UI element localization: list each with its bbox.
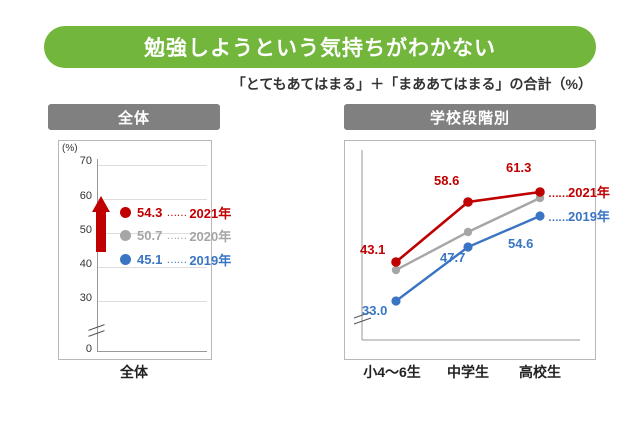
datalabel-2019-kou: 54.6 — [508, 236, 533, 251]
y-unit-label: (%) — [62, 143, 78, 154]
section-header-overall: 全体 — [48, 104, 220, 130]
legend-year-2020: 2020年 — [189, 226, 231, 245]
xcat-shou: 小4〜6生 — [352, 362, 432, 382]
ytick-40: 40 — [70, 258, 92, 270]
section-header-byschool-label: 学校段階別 — [430, 107, 510, 128]
legend-dot-2019-icon — [120, 254, 131, 265]
legend-dots-2019: …… — [166, 254, 186, 266]
series-dots-2021: …… — [548, 188, 568, 200]
slide-root: 勉強しようという気持ちがわかない 「とてもあてはまる」＋「まああてはまる」の合計… — [0, 0, 640, 427]
datalabel-2019-shou: 33.0 — [362, 303, 387, 318]
x-axis-line — [97, 351, 207, 352]
increase-arrow-icon — [92, 196, 110, 252]
legend-dot-2021-icon — [120, 207, 131, 218]
legend-year-2021: 2021年 — [189, 203, 231, 222]
datalabel-2021-kou: 61.3 — [506, 160, 531, 175]
ytick-70: 70 — [70, 155, 92, 167]
series-label-2019: ……2019年 — [548, 206, 610, 225]
legend-item-2021: 54.3 …… 2021年 — [120, 203, 231, 222]
legend-value-2019: 45.1 — [137, 252, 162, 267]
legend-value-2020: 50.7 — [137, 228, 162, 243]
x-caption-overall: 全体 — [94, 362, 174, 382]
ytick-30: 30 — [70, 292, 92, 304]
datalabel-2019-chu: 47.7 — [440, 250, 465, 265]
gridline-30 — [97, 301, 207, 302]
gridline-60 — [97, 199, 207, 200]
ytick-60: 60 — [70, 190, 92, 202]
subtitle: 「とてもあてはまる」＋「まああてはまる」の合計（%） — [232, 74, 592, 94]
section-header-overall-label: 全体 — [118, 107, 150, 128]
legend-dot-2020-icon — [120, 230, 131, 241]
datalabel-2021-chu: 58.6 — [434, 173, 459, 188]
legend-item-2019: 45.1 …… 2019年 — [120, 250, 231, 269]
axis-break-mark — [88, 323, 108, 339]
legend-dots-2021: …… — [166, 207, 186, 219]
series-dots-2019: …… — [548, 212, 568, 224]
xcat-chu: 中学生 — [428, 362, 508, 382]
legend-value-2021: 54.3 — [137, 205, 162, 220]
series-text-2019: 2019年 — [568, 209, 610, 224]
series-label-2021: ……2021年 — [548, 182, 610, 201]
gridline-70 — [97, 165, 207, 166]
legend-year-2019: 2019年 — [189, 250, 231, 269]
legend-item-2020: 50.7 …… 2020年 — [120, 226, 231, 245]
ytick-0: 0 — [70, 343, 92, 355]
ytick-50: 50 — [70, 224, 92, 236]
series-text-2021: 2021年 — [568, 185, 610, 200]
section-header-byschool: 学校段階別 — [344, 104, 596, 130]
title-banner: 勉強しようという気持ちがわかない — [44, 26, 596, 68]
page-title: 勉強しようという気持ちがわかない — [144, 32, 496, 62]
datalabel-2021-shou: 43.1 — [360, 242, 385, 257]
xcat-kou: 高校生 — [500, 362, 580, 382]
legend-dots-2020: …… — [166, 230, 186, 242]
